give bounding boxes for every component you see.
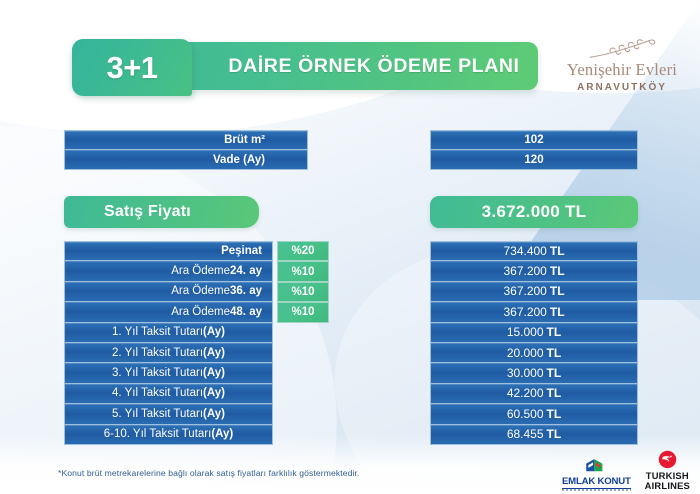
plan-row-label-text: 6-10. Yıl Taksit Tutarı (104, 428, 212, 440)
table-row: Ara Ödeme 48. ay%10 (64, 302, 273, 322)
brand-logo: Yenişehir Evleri ARNAVUTKÖY (552, 38, 692, 100)
plan-row-amount-currency: TL (547, 325, 562, 339)
plan-row-amount-currency: TL (547, 366, 562, 380)
plan-row-amount-currency: TL (550, 264, 565, 278)
table-row: Peşinat%20 (64, 241, 273, 261)
plan-row-amount-number: 30.000 (507, 366, 544, 380)
turkish-airlines-bird-icon (658, 450, 677, 469)
plan-row-amount: 367.200TL (430, 282, 638, 302)
plan-row-label-emphasis: (Ay) (203, 367, 225, 379)
brand-subtitle: ARNAVUTKÖY (552, 82, 692, 93)
plan-row-amount-number: 734.400 (503, 244, 546, 258)
plan-row-label: Peşinat (64, 241, 273, 261)
sale-price-label: Satış Fiyatı (64, 196, 259, 228)
plan-label-column: Peşinat%20Ara Ödeme 24. ay%10Ara Ödeme 3… (64, 241, 273, 445)
plan-row-amount-number: 367.200 (503, 284, 546, 298)
olive-branch-icon (581, 38, 664, 60)
plan-row-label-emphasis: 48. ay (230, 306, 262, 318)
plan-row-amount-number: 20.000 (507, 346, 544, 360)
partner-logos: EMLAK KONUT TURKISH AIRLINES (562, 450, 690, 491)
partner-turkish-airlines-label: TURKISH AIRLINES (645, 471, 690, 491)
unit-type-badge-label: 3+1 (106, 50, 157, 86)
plan-row-label: Ara Ödeme 24. ay (64, 261, 273, 281)
partner-turkish-airlines-line2: AIRLINES (645, 481, 690, 491)
plan-row-amount: 30.000TL (430, 363, 638, 383)
partner-turkish-airlines: TURKISH AIRLINES (645, 450, 690, 491)
plan-row-percent-badge: %10 (277, 261, 329, 281)
plan-row-amount: 68.455TL (430, 425, 638, 445)
plan-row-amount: 367.200TL (430, 261, 638, 281)
table-row: 2. Yıl Taksit Tutarı (Ay) (64, 343, 273, 363)
brand-name: Yenişehir Evleri (552, 61, 692, 79)
plan-row-amount: 15.000TL (430, 323, 638, 343)
plan-row-label-emphasis: (Ay) (203, 326, 225, 338)
header-banner: DAİRE ÖRNEK ÖDEME PLANI 3+1 (72, 42, 538, 90)
table-row: 1. Yıl Taksit Tutarı (Ay) (64, 323, 273, 343)
page-title: DAİRE ÖRNEK ÖDEME PLANI (210, 42, 538, 90)
table-row: Ara Ödeme 24. ay%10 (64, 261, 273, 281)
table-row: 3. Yıl Taksit Tutarı (Ay) (64, 363, 273, 383)
plan-row-label-emphasis: (Ay) (203, 347, 225, 359)
plan-row-label: Ara Ödeme 48. ay (64, 302, 273, 322)
plan-row-label-text: 1. Yıl Taksit Tutarı (112, 326, 203, 338)
emlak-konut-logo-icon (583, 457, 609, 474)
table-row: Ara Ödeme 36. ay%10 (64, 282, 273, 302)
plan-row-label-text: 4. Yıl Taksit Tutarı (112, 387, 203, 399)
footnote: *Konut brüt metrekarelerine bağlı olarak… (58, 468, 359, 478)
spec-value-vade: 120 (430, 150, 638, 170)
plan-row-label: 2. Yıl Taksit Tutarı (Ay) (64, 343, 273, 363)
plan-row-amount-currency: TL (547, 407, 562, 421)
plan-row-amount-currency: TL (550, 305, 565, 319)
plan-row-amount-number: 42.200 (507, 386, 544, 400)
table-row: 5. Yıl Taksit Tutarı (Ay) (64, 404, 273, 424)
partner-emlak-konut: EMLAK KONUT (562, 457, 631, 491)
spec-value-brut-m2: 102 (430, 130, 638, 150)
plan-row-label-text: Ara Ödeme (171, 285, 230, 297)
plan-row-amount: 60.500TL (430, 404, 638, 424)
plan-row-amount: 367.200TL (430, 302, 638, 322)
plan-row-label-text: 2. Yıl Taksit Tutarı (112, 347, 203, 359)
plan-row-amount: 20.000TL (430, 343, 638, 363)
plan-row-amount-currency: TL (547, 427, 562, 441)
plan-row-label-text: 5. Yıl Taksit Tutarı (112, 408, 203, 420)
plan-row-label-text: Ara Ödeme (171, 306, 230, 318)
plan-value-column: 734.400TL367.200TL367.200TL367.200TL15.0… (430, 241, 638, 445)
plan-row-amount-number: 15.000 (507, 325, 544, 339)
plan-row-label-text: 3. Yıl Taksit Tutarı (112, 367, 203, 379)
plan-row-amount-currency: TL (550, 244, 565, 258)
spec-label-brut-m2: Brüt m² (64, 130, 308, 150)
spec-value-column: 102 120 (430, 130, 638, 170)
plan-row-amount-number: 367.200 (503, 305, 546, 319)
spec-label-vade: Vade (Ay) (64, 150, 308, 170)
plan-row-amount-currency: TL (547, 346, 562, 360)
plan-row-amount: 734.400TL (430, 241, 638, 261)
spec-label-column: Brüt m² Vade (Ay) (64, 130, 308, 170)
sale-price-value: 3.672.000 TL (430, 196, 638, 228)
plan-row-amount-number: 367.200 (503, 264, 546, 278)
partner-emlak-konut-rule (562, 488, 631, 491)
plan-row-label-text: Ara Ödeme (171, 265, 230, 277)
table-row: 4. Yıl Taksit Tutarı (Ay) (64, 384, 273, 404)
unit-type-badge: 3+1 (72, 39, 192, 96)
plan-row-label-emphasis: Peşinat (221, 245, 262, 257)
plan-row-label: 4. Yıl Taksit Tutarı (Ay) (64, 384, 273, 404)
plan-row-label-emphasis: (Ay) (203, 387, 225, 399)
plan-row-amount-currency: TL (550, 284, 565, 298)
plan-row-label: 3. Yıl Taksit Tutarı (Ay) (64, 363, 273, 383)
plan-row-amount-number: 68.455 (507, 427, 544, 441)
plan-row-label-emphasis: (Ay) (211, 428, 233, 440)
plan-row-percent-badge: %20 (277, 241, 329, 261)
plan-row-label: 1. Yıl Taksit Tutarı (Ay) (64, 323, 273, 343)
plan-row-percent-badge: %10 (277, 282, 329, 302)
plan-row-amount-number: 60.500 (507, 407, 544, 421)
table-row: 6-10. Yıl Taksit Tutarı (Ay) (64, 425, 273, 445)
plan-row-amount-currency: TL (547, 386, 562, 400)
plan-row-label: 6-10. Yıl Taksit Tutarı (Ay) (64, 425, 273, 445)
plan-row-label-emphasis: (Ay) (203, 408, 225, 420)
plan-row-label-emphasis: 36. ay (230, 285, 262, 297)
plan-row-amount: 42.200TL (430, 384, 638, 404)
plan-row-label: 5. Yıl Taksit Tutarı (Ay) (64, 404, 273, 424)
partner-emlak-konut-label: EMLAK KONUT (562, 476, 631, 487)
plan-row-label-emphasis: 24. ay (230, 265, 262, 277)
plan-row-label: Ara Ödeme 36. ay (64, 282, 273, 302)
plan-row-percent-badge: %10 (277, 302, 329, 322)
